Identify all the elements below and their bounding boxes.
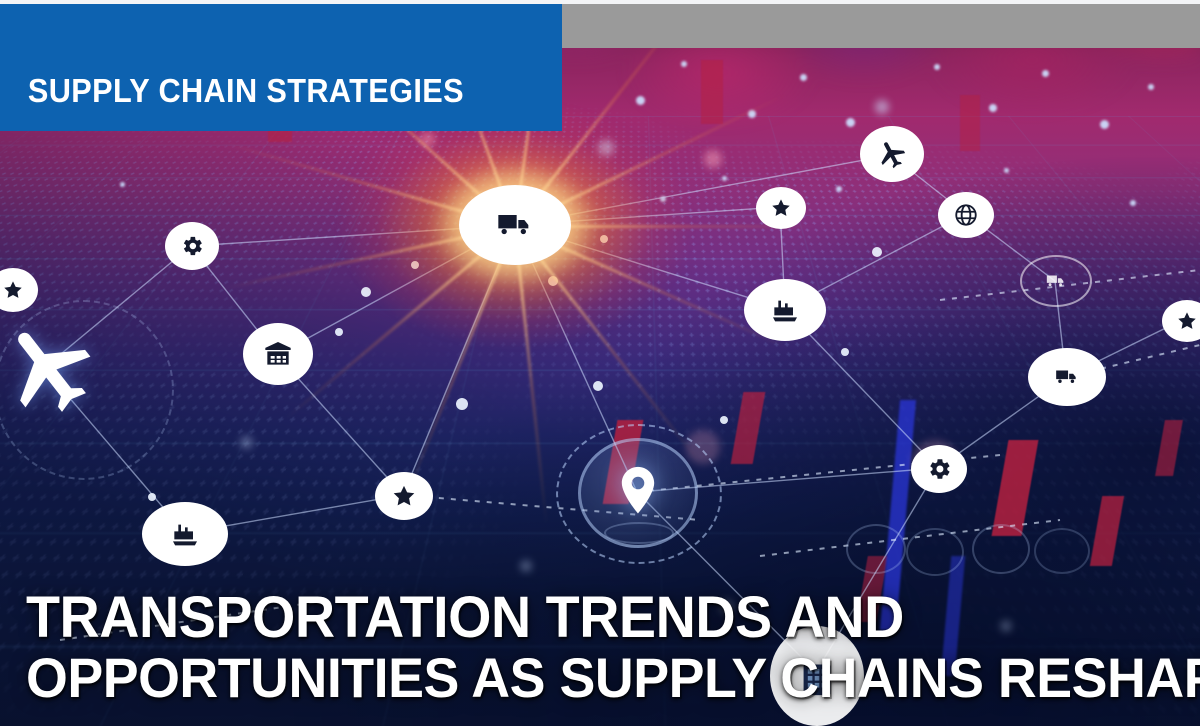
decor-ring xyxy=(1034,528,1090,574)
gear-icon xyxy=(165,222,219,270)
hero-banner: SUPPLY CHAIN STRATEGIES TRANSPORTATION T… xyxy=(0,0,1200,726)
star-icon xyxy=(375,472,433,520)
kicker-label: SUPPLY CHAIN STRATEGIES xyxy=(0,74,464,131)
truck-icon xyxy=(1020,255,1092,307)
gray-strip xyxy=(560,4,1200,48)
page-title: TRANSPORTATION TRENDS AND OPPORTUNITIES … xyxy=(26,588,1143,708)
headline-line-1: TRANSPORTATION TRENDS AND xyxy=(26,588,1143,649)
decor-ring xyxy=(906,528,964,576)
warehouse-icon xyxy=(243,323,313,385)
star-icon xyxy=(756,187,806,229)
kicker-banner: SUPPLY CHAIN STRATEGIES xyxy=(0,4,562,131)
headline-line-2: OPPORTUNITIES AS SUPPLY CHAINS RESHAPE xyxy=(26,649,1143,708)
map-pin-icon xyxy=(609,456,667,531)
decor-ring xyxy=(846,524,906,574)
truck-icon xyxy=(459,185,571,265)
decor-ring xyxy=(0,300,174,480)
globe-icon xyxy=(938,192,994,238)
gear-icon xyxy=(911,445,967,493)
ship-icon xyxy=(744,279,826,341)
airplane-icon xyxy=(860,126,924,182)
truck-icon xyxy=(1028,348,1106,406)
decor-ring xyxy=(604,522,674,544)
decor-ring xyxy=(972,524,1030,574)
ship-icon xyxy=(142,502,228,566)
